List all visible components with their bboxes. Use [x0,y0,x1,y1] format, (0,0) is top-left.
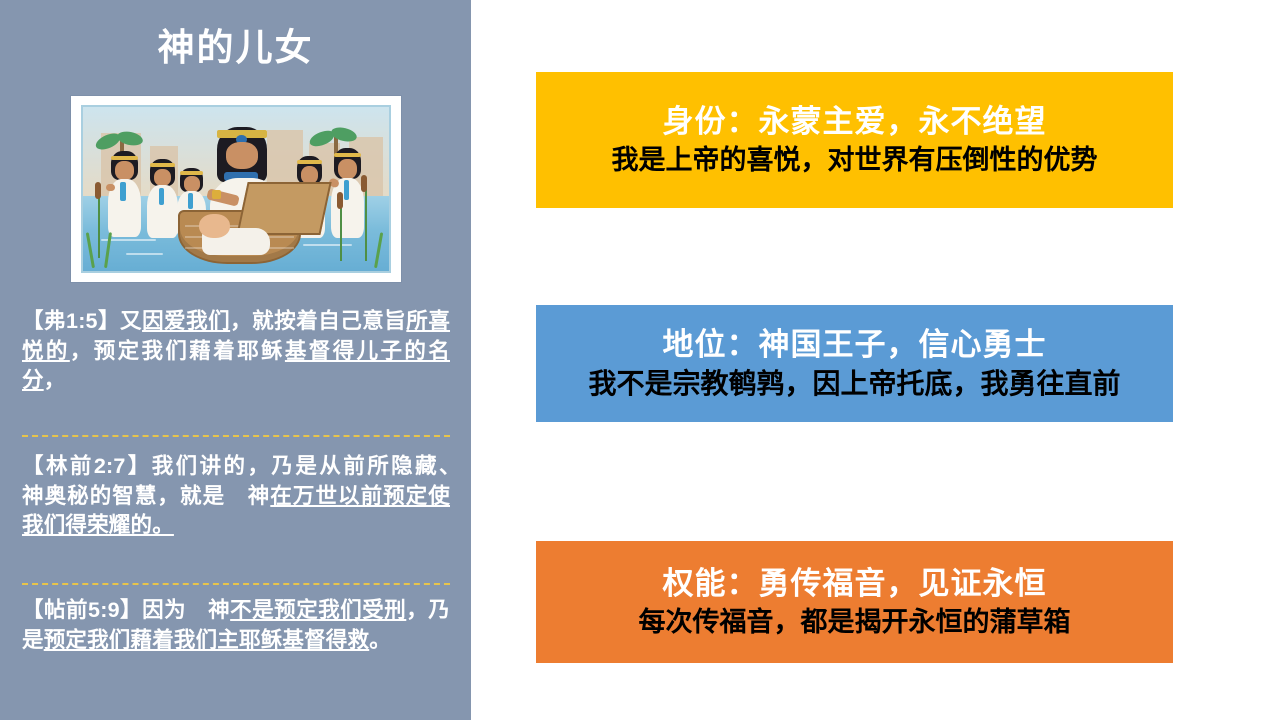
illustration-baby-head [199,214,230,239]
illustration-attendant [104,151,144,236]
illustration-reed [98,192,100,258]
verse-text: ， [44,368,66,392]
verse-emphasis: 因爱我们 [142,309,230,333]
moses-in-basket-illustration [81,105,391,273]
verse-reference: 【帖前5:9】 [22,598,142,622]
card-status-subline: 我不是宗教鹌鹑，因上帝托底，我勇往直前 [588,367,1120,401]
illustration-reed [340,205,342,261]
illustration-basket-lid [236,182,331,235]
verse-text: 又 [120,309,142,333]
verse-text: ，就按着自己意旨 [230,309,406,333]
verse-divider [22,435,450,437]
verse-emphasis: 预定我们藉着我们主耶稣基督得救 [44,628,370,652]
illustration-ripple [126,253,163,255]
verse-reference: 【弗1:5】 [22,309,120,333]
left-panel: 神的儿女 [0,0,471,720]
card-power-subline: 每次传福音，都是揭开永恒的蒲草箱 [639,606,1071,638]
card-power-headline: 权能：勇传福音，见证永恒 [663,565,1047,602]
card-identity-subline: 我是上帝的喜悦，对世界有压倒性的优势 [612,144,1098,176]
verse-reference: 【林前2:7】 [22,454,152,478]
card-status-headline: 地位：神国王子，信心勇士 [663,326,1047,363]
illustration-reed-head [337,192,343,209]
verse-text: 。 [369,628,391,652]
illustration-attendant [328,148,368,238]
card-status[interactable]: 地位：神国王子，信心勇士 我不是宗教鹌鹑，因上帝托底，我勇往直前 [536,305,1173,422]
verse-divider [22,583,450,585]
verse-1thessalonians-5-9: 【帖前5:9】因为 神不是预定我们受刑，乃是预定我们藉着我们主耶稣基督得救。 [22,596,450,655]
verse-emphasis: 不是预定我们受刑 [230,598,406,622]
card-identity-headline: 身份：永蒙主爱，永不绝望 [663,103,1047,140]
slide-canvas: 神的儿女 [0,0,1280,720]
illustration-reed-head [95,182,101,199]
illustration-reed [365,189,367,261]
page-title: 神的儿女 [0,28,471,69]
verse-1corinthians-2-7: 【林前2:7】我们讲的，乃是从前所隐藏、 神奥秘的智慧，就是 神在万世以前预定使… [22,452,450,541]
card-power[interactable]: 权能：勇传福音，见证永恒 每次传福音，都是揭开永恒的蒲草箱 [536,541,1173,663]
verse-text: ，预定我们藉着耶稣 [70,339,285,363]
verse-text: 因为 神 [142,598,230,622]
verse-ephesians-1-5: 【弗1:5】又因爱我们，就按着自己意旨所喜悦的，预定我们藉着耶稣基督得儿子的名分… [22,307,450,396]
card-identity[interactable]: 身份：永蒙主爱，永不绝望 我是上帝的喜悦，对世界有压倒性的优势 [536,72,1173,208]
illustration-frame [70,95,402,283]
illustration-reed-head [361,175,367,192]
